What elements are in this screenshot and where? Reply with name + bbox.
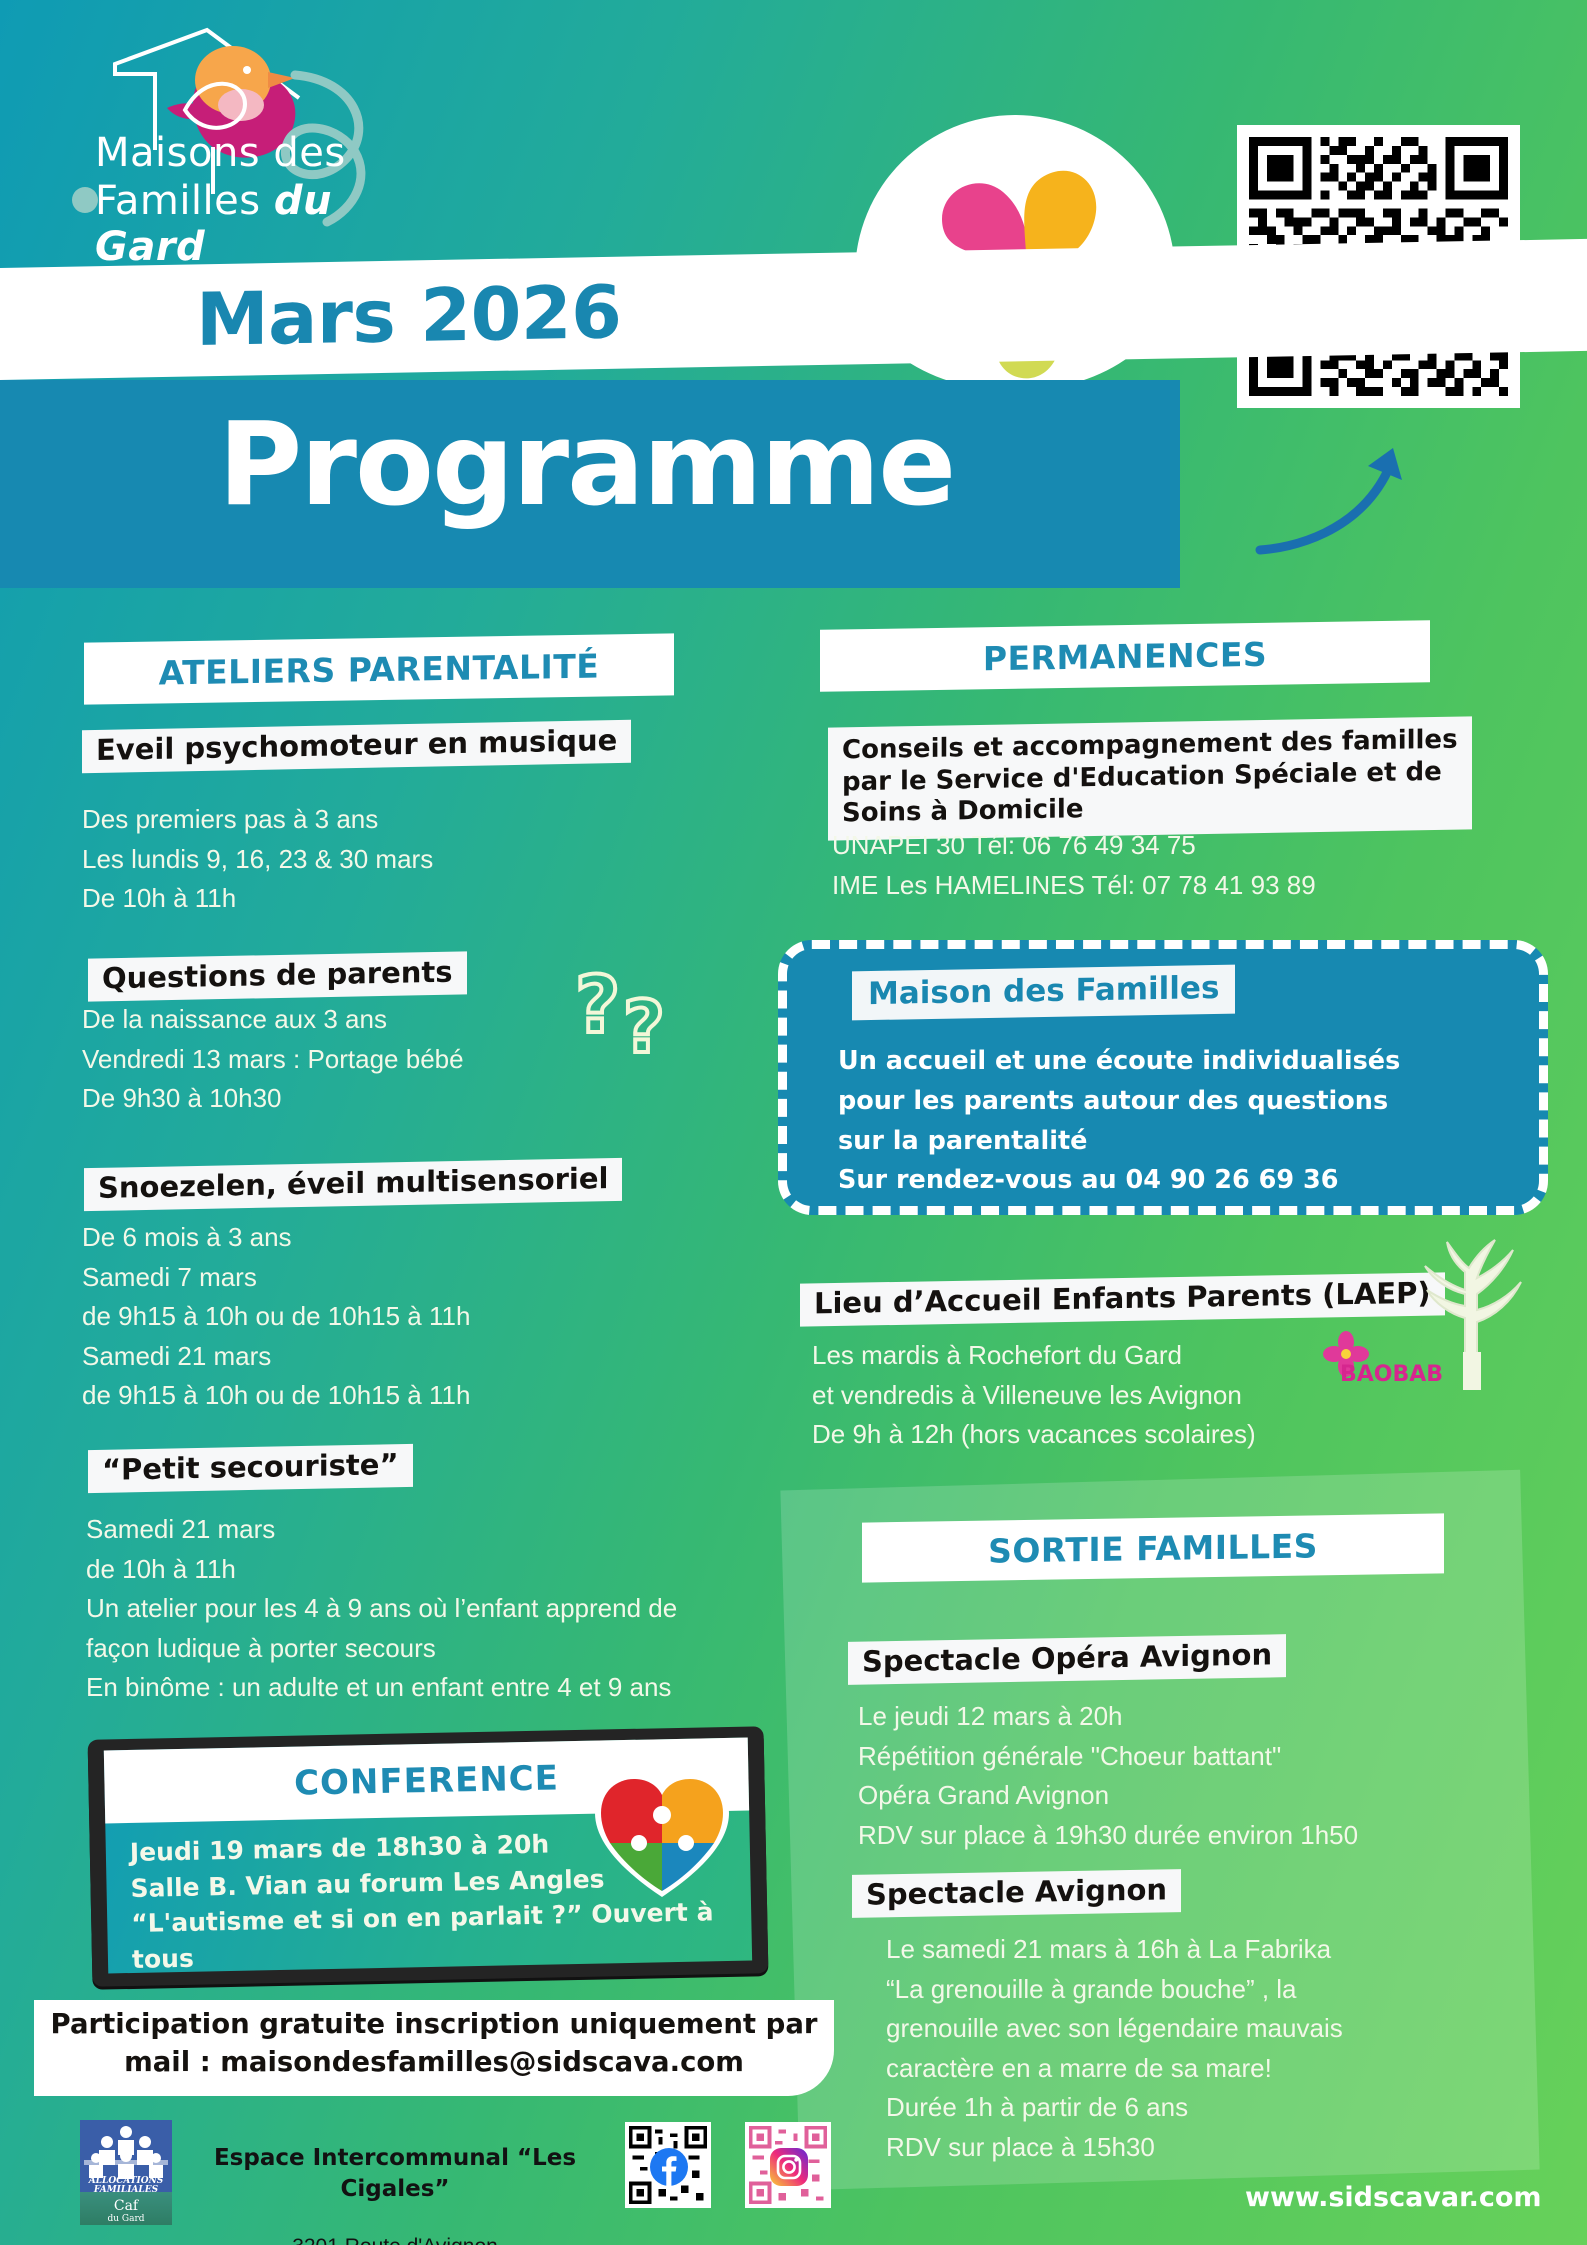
footer-address: 3201 Route d'Avignon 30650 Rochefort du … [185,2233,605,2245]
atelier-title-1: Eveil psychomoteur en musique [82,720,631,774]
facebook-icon[interactable] [650,2148,688,2186]
permanences-contacts: UNAPEI 30 Tél: 06 76 49 34 75 IME Les HA… [832,826,1316,905]
atelier-title-1-label: Eveil psychomoteur en musique [96,723,617,767]
logo-line-1: Maisons des [95,130,455,176]
logo-line-2: Familles du Gard [95,178,455,270]
footer-address-block: Espace Intercommunal “Les Cigales” 3201 … [185,2115,605,2245]
sortie-title-2: Spectacle Avignon [852,1869,1181,1918]
month-title: Mars 2026 [196,270,621,363]
atelier-title-2: Questions de parents [88,951,467,1001]
caf-line-3: Caf [114,2198,140,2214]
maisons-des-familles-logo: Maisons des Familles du Gard [55,22,455,237]
section-header-ateliers: ATELIERS PARENTALITÉ [84,633,674,704]
permanences-heading: Conseils et accompagnement des familles … [828,716,1472,840]
logo-line-2-plain: Familles [95,178,274,224]
atelier-body-1: Des premiers pas à 3 ans Les lundis 9, 1… [82,800,433,919]
poster-canvas: Maisons des Familles du Gard SIDSCAVAR [0,0,1587,2245]
section-header-sortie-familles: SORTIE FAMILLES [862,1513,1444,1582]
maison-des-familles-title: Maison des Familles [852,965,1235,1021]
svg-text:?: ? [623,985,665,1069]
atelier-body-2: De la naissance aux 3 ans Vendredi 13 ma… [82,1000,464,1119]
atelier-body-4: Samedi 21 mars de 10h à 11h Un atelier p… [86,1510,677,1708]
section-header-permanences: PERMANENCES [820,620,1430,692]
svg-text:?: ? [575,961,620,1051]
instagram-icon[interactable] [770,2148,808,2186]
logo-wordmark: Maisons des Familles du Gard [95,130,455,270]
sortie-title-1-label: Spectacle Opéra Avignon [862,1637,1272,1678]
sortie-title-1: Spectacle Opéra Avignon [848,1634,1286,1685]
arrow-up-icon [1250,430,1450,560]
section-header-sortie-familles-label: SORTIE FAMILLES [988,1526,1318,1570]
conference-header-label: CONFERENCE [294,1758,560,1803]
sortie-body-2: Le samedi 21 mars à 16h à La Fabrika “La… [886,1930,1343,2167]
atelier-title-3-label: Snoezelen, éveil multisensoriel [98,1161,608,1205]
page-title: Programme [218,398,954,532]
atelier-title-2-label: Questions de parents [102,955,453,996]
maison-des-familles-body: Un accueil et une écoute individualisés … [838,1042,1538,1201]
section-header-ateliers-label: ATELIERS PARENTALITÉ [159,646,600,692]
sortie-title-2-label: Spectacle Avignon [866,1872,1167,1911]
atelier-body-3: De 6 mois à 3 ans Samedi 7 mars de 9h15 … [82,1218,470,1416]
laep-body: Les mardis à Rochefort du Gard et vendre… [812,1336,1256,1455]
caf-logo: ALLOCATIONS FAMILIALES Caf du Gard [80,2120,172,2225]
atelier-title-4: “Petit secouriste” [88,1444,413,1493]
participation-text: Participation gratuite inscription uniqu… [44,2006,824,2082]
atelier-title-3: Snoezelen, éveil multisensoriel [84,1158,622,1211]
laep-title-label: Lieu d’Accueil Enfants Parents (LAEP) [814,1276,1431,1321]
caf-line-2: FAMILIALES [93,2185,159,2195]
question-marks-icon: ? ? [575,960,705,1080]
website-url[interactable]: www.sidscavar.com [1245,2182,1542,2213]
footer-venue: Espace Intercommunal “Les Cigales” [185,2143,605,2205]
caf-line-4: du Gard [107,2214,144,2224]
section-header-permanences-label: PERMANENCES [983,634,1267,677]
baobab-label: BAOBAB [1340,1362,1443,1387]
atelier-title-4-label: “Petit secouriste” [102,1447,399,1487]
sortie-body-1: Le jeudi 12 mars à 20h Répétition généra… [858,1697,1358,1855]
laep-title: Lieu d’Accueil Enfants Parents (LAEP) [800,1272,1445,1326]
puzzle-heart-icon [587,1765,737,1905]
